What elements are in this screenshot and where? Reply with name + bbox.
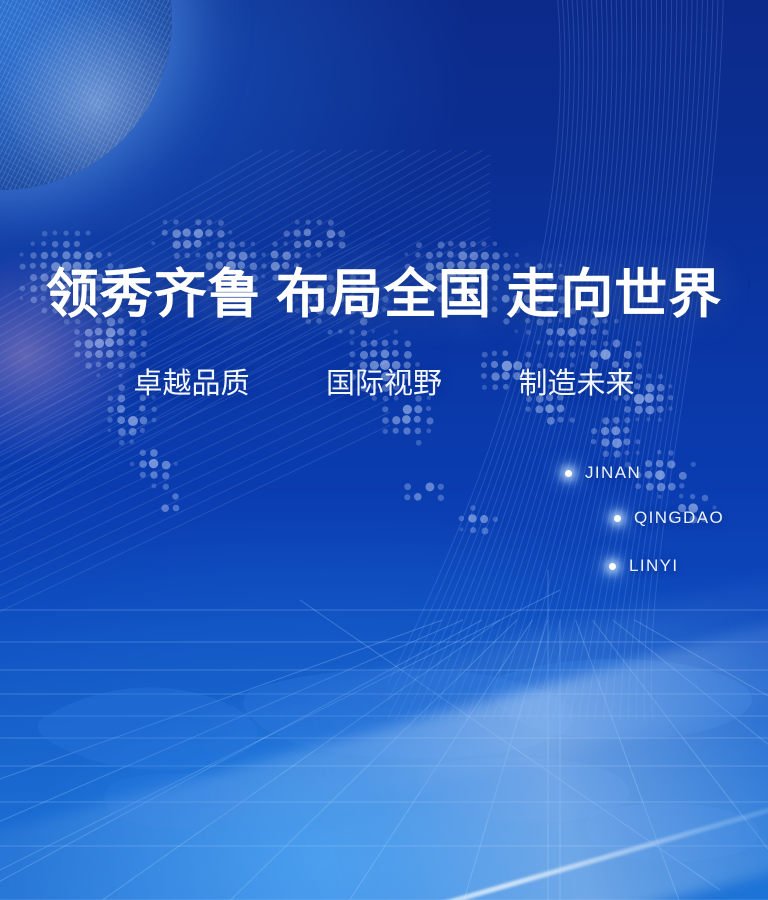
city-marker-qingdao: QINGDAO bbox=[614, 508, 724, 528]
city-label: JINAN bbox=[585, 463, 641, 483]
subtitle-segment-2: 国际视野 bbox=[326, 370, 442, 399]
subtitle: 卓越品质 国际视野 制造未来 bbox=[0, 370, 768, 399]
page-title: 领秀齐鲁 布局全国 走向世界 bbox=[0, 269, 768, 322]
city-marker-jinan: JINAN bbox=[565, 463, 641, 483]
location-dot-icon bbox=[609, 563, 616, 570]
subtitle-segment-1: 卓越品质 bbox=[133, 370, 249, 399]
location-dot-icon bbox=[565, 470, 572, 477]
location-dot-icon bbox=[614, 515, 621, 522]
hero-banner: 领秀齐鲁 布局全国 走向世界 卓越品质 国际视野 制造未来 JINAN QING… bbox=[0, 0, 768, 900]
city-marker-linyi: LINYI bbox=[609, 556, 679, 576]
city-label: QINGDAO bbox=[634, 508, 724, 528]
city-label: LINYI bbox=[629, 556, 679, 576]
world-map-silhouette bbox=[38, 659, 760, 862]
subtitle-segment-3: 制造未来 bbox=[519, 370, 635, 399]
perspective-grid bbox=[0, 570, 768, 900]
